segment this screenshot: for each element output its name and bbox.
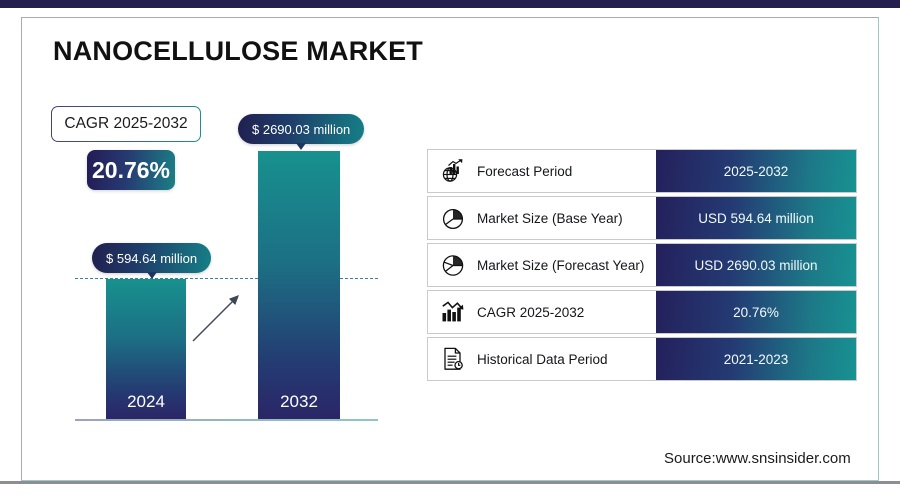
bar-2024-value-text: $ 594.64 million [106, 251, 197, 266]
table-row-value: 2021-2023 [724, 352, 789, 367]
bar-chart: 2024 2032 $ 594.64 million $ 2690.03 mil… [0, 0, 430, 464]
table-row-label: Market Size (Base Year) [477, 211, 623, 226]
table-row-label: Market Size (Forecast Year) [477, 258, 644, 273]
table-row-label: CAGR 2025-2032 [477, 305, 584, 320]
bar-2032-year-label: 2032 [258, 392, 340, 412]
table-row: Historical Data Period 2021-2023 [428, 338, 856, 380]
table-row-value: 2025-2032 [724, 164, 789, 179]
table-row-value-cell: USD 594.64 million [656, 197, 856, 239]
table-row-label-cell: Market Size (Forecast Year) [428, 244, 656, 286]
bar-2024-value-pill: $ 594.64 million [92, 243, 211, 273]
table-row-label: Forecast Period [477, 164, 572, 179]
bar-chart-trend-icon [440, 299, 466, 325]
key-metrics-table: Forecast Period 2025-2032 Market Size (B… [428, 150, 856, 385]
table-row-value-cell: 2025-2032 [656, 150, 856, 192]
bar-2024-year-label: 2024 [106, 392, 186, 412]
table-row-value: USD 2690.03 million [694, 258, 817, 273]
source-attribution: Source:www.snsinsider.com [664, 450, 851, 467]
table-row-label-cell: Market Size (Base Year) [428, 197, 656, 239]
bar-2024: 2024 [106, 279, 186, 420]
bar-2032-value-text: $ 2690.03 million [252, 122, 350, 137]
chart-baseline [75, 419, 378, 421]
bar-2032-value-pill: $ 2690.03 million [238, 114, 364, 144]
table-row: Market Size (Base Year) USD 594.64 milli… [428, 197, 856, 239]
table-row: CAGR 2025-2032 20.76% [428, 291, 856, 333]
table-row-label-cell: Historical Data Period [428, 338, 656, 380]
table-row-value: USD 594.64 million [698, 211, 814, 226]
pie-chart-thirds-icon [440, 252, 466, 278]
table-row-label-cell: Forecast Period [428, 150, 656, 192]
table-row: Market Size (Forecast Year) USD 2690.03 … [428, 244, 856, 286]
table-row-value-cell: 2021-2023 [656, 338, 856, 380]
globe-growth-chart-icon [440, 158, 466, 184]
growth-arrow-icon [185, 285, 255, 347]
table-row-label: Historical Data Period [477, 352, 608, 367]
table-row-value-cell: USD 2690.03 million [656, 244, 856, 286]
table-row-value: 20.76% [733, 305, 779, 320]
document-clock-icon [440, 346, 466, 372]
table-row-value-cell: 20.76% [656, 291, 856, 333]
bar-2032: 2032 [258, 151, 340, 420]
pie-chart-icon [440, 205, 466, 231]
bottom-rule [0, 481, 900, 484]
table-row: Forecast Period 2025-2032 [428, 150, 856, 192]
table-row-label-cell: CAGR 2025-2032 [428, 291, 656, 333]
